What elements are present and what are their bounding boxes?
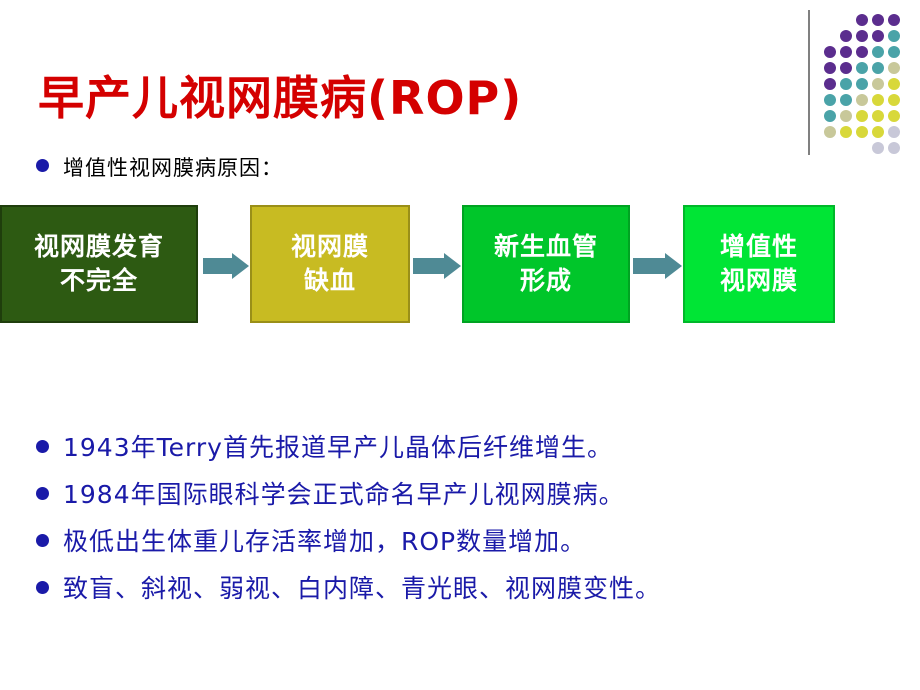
decorative-dot: [872, 62, 884, 74]
flow-arrow-1-icon: [203, 253, 249, 279]
decorative-dot: [840, 62, 852, 74]
bullet-marker-icon: [36, 159, 49, 172]
list-item-text: 致盲、斜视、弱视、白内障、青光眼、视网膜变性。: [63, 574, 661, 604]
bullet-marker-icon: [36, 581, 49, 594]
decorative-dot: [840, 78, 852, 90]
decorative-dot: [888, 110, 900, 122]
decorative-dot: [888, 14, 900, 26]
decorative-dot: [888, 126, 900, 138]
bullet-list: 1943年Terry首先报道早产儿晶体后纤维增生。 1984年国际眼科学会正式命…: [36, 433, 896, 621]
decorative-dot: [840, 110, 852, 122]
decorative-dot: [824, 78, 836, 90]
decorative-dot: [856, 30, 868, 42]
flow-box-3-label: 新生血管 形成: [494, 230, 598, 298]
vertical-rule: [808, 10, 810, 155]
decorative-dot: [888, 142, 900, 154]
decorative-dot: [840, 46, 852, 58]
decorative-dot: [856, 126, 868, 138]
decorative-dot: [824, 46, 836, 58]
flow-diagram: 视网膜发育 不完全 视网膜 缺血 新生血管 形成 增值性 视网膜: [0, 205, 845, 330]
flow-arrow-2-icon: [413, 253, 461, 279]
flow-arrow-3-icon: [633, 253, 682, 279]
decorative-dot: [872, 30, 884, 42]
flow-box-3: 新生血管 形成: [462, 205, 630, 323]
bullet-marker-icon: [36, 440, 49, 453]
list-item: 1943年Terry首先报道早产儿晶体后纤维增生。: [36, 433, 896, 463]
decorative-dot-grid: [808, 10, 898, 155]
decorative-dot: [840, 126, 852, 138]
decorative-dot: [888, 62, 900, 74]
decorative-dot: [872, 78, 884, 90]
decorative-dot: [824, 110, 836, 122]
decorative-dot: [872, 14, 884, 26]
bullet-marker-icon: [36, 487, 49, 500]
flow-box-4: 增值性 视网膜: [683, 205, 835, 323]
decorative-dot: [824, 62, 836, 74]
flow-box-2-label: 视网膜 缺血: [291, 230, 369, 298]
decorative-dot: [888, 78, 900, 90]
decorative-dot: [872, 110, 884, 122]
decorative-dot: [872, 126, 884, 138]
decorative-dot: [856, 46, 868, 58]
flow-box-2: 视网膜 缺血: [250, 205, 410, 323]
decorative-dot: [872, 94, 884, 106]
decorative-dot: [888, 30, 900, 42]
list-item: 致盲、斜视、弱视、白内障、青光眼、视网膜变性。: [36, 574, 896, 604]
decorative-dot: [824, 94, 836, 106]
decorative-dot: [856, 14, 868, 26]
decorative-dot: [856, 110, 868, 122]
decorative-dot: [888, 94, 900, 106]
page-title: 早产儿视网膜病(ROP): [38, 62, 522, 128]
list-item: 1984年国际眼科学会正式命名早产儿视网膜病。: [36, 480, 896, 510]
subhead-text: 增值性视网膜病原因：: [63, 152, 283, 182]
decorative-dot: [872, 142, 884, 154]
flow-box-4-label: 增值性 视网膜: [720, 230, 798, 298]
decorative-dot: [856, 94, 868, 106]
subhead-bullet: 增值性视网膜病原因：: [36, 152, 283, 182]
bullet-marker-icon: [36, 534, 49, 547]
decorative-dot: [888, 46, 900, 58]
decorative-dot: [840, 30, 852, 42]
decorative-dot: [840, 94, 852, 106]
decorative-dot: [856, 78, 868, 90]
list-item-text: 1943年Terry首先报道早产儿晶体后纤维增生。: [63, 433, 613, 463]
flow-box-1: 视网膜发育 不完全: [0, 205, 198, 323]
decorative-dot: [872, 46, 884, 58]
list-item-text: 1984年国际眼科学会正式命名早产儿视网膜病。: [63, 480, 625, 510]
flow-box-1-label: 视网膜发育 不完全: [34, 230, 164, 298]
decorative-dot: [856, 62, 868, 74]
list-item-text: 极低出生体重儿存活率增加，ROP数量增加。: [63, 527, 586, 557]
list-item: 极低出生体重儿存活率增加，ROP数量增加。: [36, 527, 896, 557]
decorative-dot: [824, 126, 836, 138]
